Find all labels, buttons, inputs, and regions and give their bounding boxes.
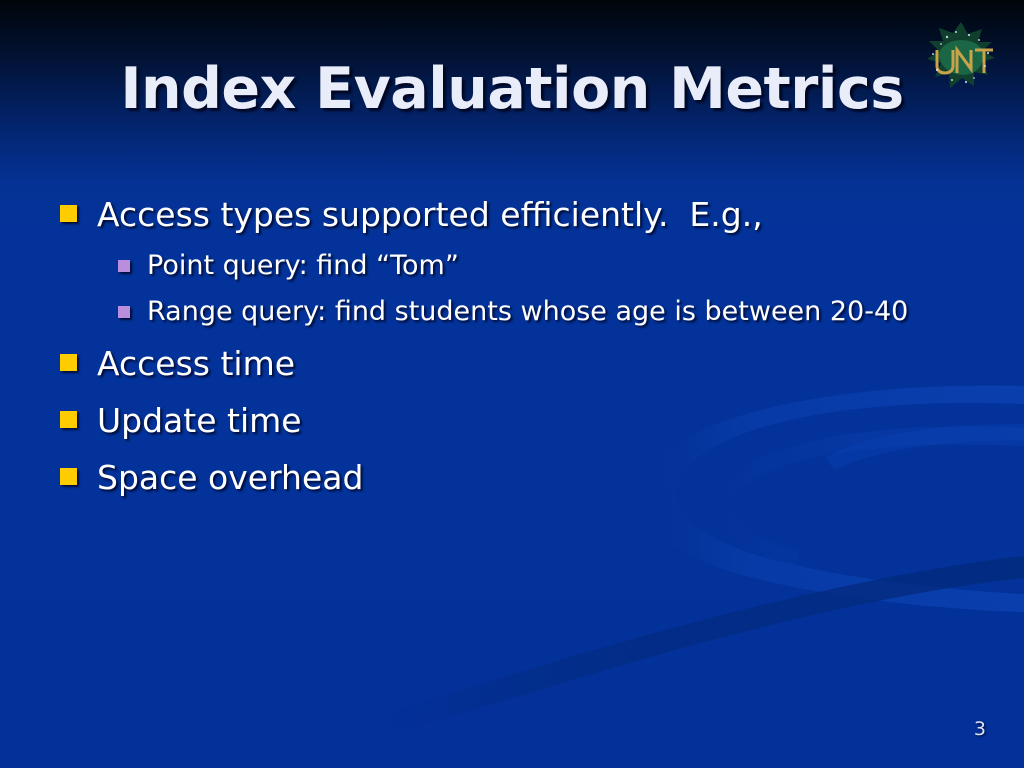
list-item: Update time [60, 392, 990, 449]
list-item-label: Point query: find “Tom” [147, 243, 459, 289]
list-item: Space overhead [60, 449, 990, 506]
slide-number: 3 [974, 718, 986, 740]
list-item-label: Range query: find students whose age is … [147, 289, 908, 335]
list-item: Access types supported efficiently. E.g.… [60, 186, 990, 243]
list-item-label: Access time [97, 335, 295, 392]
list-item-label: Update time [97, 392, 302, 449]
slide-title: Index Evaluation Metrics [0, 56, 1024, 122]
sub-bullet-square-icon [118, 260, 130, 272]
list-item-label: Access types supported efficiently. E.g.… [97, 186, 763, 243]
swoosh-curve-lower [386, 556, 1024, 733]
list-item: Point query: find “Tom” [60, 243, 990, 289]
bullet-square-icon [60, 354, 77, 371]
list-item-label: Space overhead [97, 449, 363, 506]
list-item: Range query: find students whose age is … [60, 289, 990, 335]
bullet-square-icon [60, 468, 77, 485]
sub-bullet-square-icon [118, 306, 130, 318]
presentation-slide: Index Evaluation Metrics Access types su… [0, 0, 1024, 768]
list-item: Access time [60, 335, 990, 392]
bullet-square-icon [60, 205, 77, 222]
bullet-square-icon [60, 411, 77, 428]
slide-body-content: Access types supported efficiently. E.g.… [60, 186, 990, 506]
